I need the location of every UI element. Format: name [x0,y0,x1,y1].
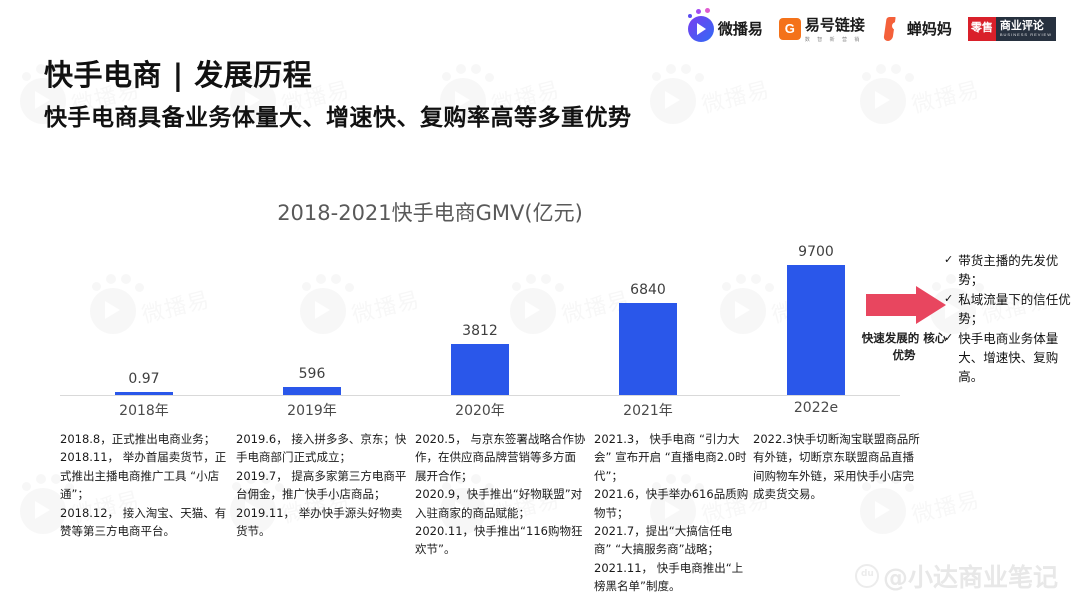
bar-value-label: 3812 [462,323,498,339]
logo-shangye-pinglun-sublabel: BUSINESS REVIEW [1000,32,1052,37]
advantage-item: ✓私域流量下的信任优势； [944,290,1076,328]
page-title: 快手电商 | 发展历程 [44,52,312,94]
watermark-text: 微播易 [908,72,983,120]
bar-group[interactable]: 0.97 [60,236,228,395]
page-subtitle: 快手电商具备业务体量大、增速快、复购率高等多重优势 [44,98,632,132]
slide-root: 微播易微播易微播易微播易微播易微播易微播易微播易微播易微播易微播易微播易微播易微… [0,0,1080,608]
timeline-note: 2022.3快手切断淘宝联盟商品所有外链，切断京东联盟商品直播间购物车外链，采用… [753,430,925,504]
bar-value-label: 596 [299,366,326,382]
watermark-logo-icon [650,60,714,124]
weiboyi-dots-icon [686,8,716,20]
advantage-item: ✓快手电商业务体量大、增速快、复购高。 [944,329,1076,386]
chart-baseline-axis [60,395,900,396]
category-label: 2021年 [564,400,732,420]
check-icon: ✓ [944,251,953,269]
advantage-item-label: 私域流量下的信任优势； [958,290,1076,328]
logo-weiboyi: 微播易 [688,16,763,42]
chanmama-leaf-icon [881,17,903,41]
watermark-tile: 微播易 [860,60,924,124]
timeline-note: 2019.6， 接入拼多多、京东；快手电商部门正式成立； 2019.7， 提高多… [236,430,408,540]
logo-chanmama: 蝉妈妈 [881,17,952,41]
advantage-item-label: 快手电商业务体量大、增速快、复购高。 [958,329,1076,386]
logo-shangye-pinglun-label: 商业评论 [1000,20,1052,32]
logo-yihaolianjie-sublabel: 数 智 新 营 销 [805,36,865,43]
chart-bar[interactable] [451,344,509,395]
chart-bar[interactable] [115,392,173,395]
bar-value-label: 9700 [798,244,834,260]
logo-weiboyi-label: 微播易 [718,18,763,39]
bar-chart-plot: 0.97596381268409700 [60,236,900,396]
arrow-head-icon [916,286,946,324]
yihaolianjie-cart-icon: G [779,18,801,40]
category-label: 2018年 [60,400,228,420]
timeline-note: 2021.3， 快手电商 “引力大会” 宣布开启 “直播电商2.0时代”； 20… [594,430,749,596]
weiboyi-play-icon [688,16,714,42]
category-label: 2019年 [228,400,396,420]
chart-bar[interactable] [619,303,677,395]
logo-yihaolianjie: G 易号链接 数 智 新 营 销 [779,14,865,43]
category-label: 2022e [732,400,900,416]
chart-title: 2018-2021快手电商GMV(亿元) [0,197,860,227]
partner-logo-bar: 微播易 G 易号链接 数 智 新 营 销 蝉妈妈 零售 商业评论 BUSINES… [688,14,1056,43]
chart-bar[interactable] [787,265,845,395]
advantages-list: ✓带货主播的先发优势；✓私域流量下的信任优势；✓快手电商业务体量大、增速快、复购… [944,251,1076,387]
arrow-body-shape [866,294,918,316]
bar-group[interactable]: 596 [228,236,396,395]
advantage-item: ✓带货主播的先发优势； [944,251,1076,289]
bar-group[interactable]: 3812 [396,236,564,395]
chart-category-axis: 2018年2019年2020年2021年2022e [60,400,900,422]
logo-yihaolianjie-label: 易号链接 [805,14,865,35]
baidu-paw-icon [855,564,879,588]
watermark-text: 微播易 [698,72,773,120]
bar-value-label: 0.97 [128,371,159,387]
watermark-logo-icon [860,60,924,124]
author-watermark-label: @小达商业笔记 [883,558,1058,594]
timeline-note: 2018.8，正式推出电商业务； 2018.11， 举办首届卖货节，正式推出主播… [60,430,232,540]
advantage-item-label: 带货主播的先发优势； [958,251,1076,289]
logo-lingshou-badge: 零售 [968,17,996,41]
timeline-note: 2020.5， 与京东签署战略合作协作，在供应商品牌营销等多方面展开合作； 20… [415,430,587,559]
chart-bar[interactable] [283,387,341,395]
bar-group[interactable]: 6840 [564,236,732,395]
logo-chanmama-label: 蝉妈妈 [907,18,952,39]
category-label: 2020年 [396,400,564,420]
arrow-caption: 快速发展的 核心优势 [858,330,950,363]
check-icon: ✓ [944,329,953,347]
author-watermark: @小达商业笔记 [855,558,1058,594]
check-icon: ✓ [944,290,953,308]
bar-value-label: 6840 [630,282,666,298]
logo-lingshou-shangye-pinglun: 零售 商业评论 BUSINESS REVIEW [968,17,1056,41]
watermark-tile: 微播易 [650,60,714,124]
